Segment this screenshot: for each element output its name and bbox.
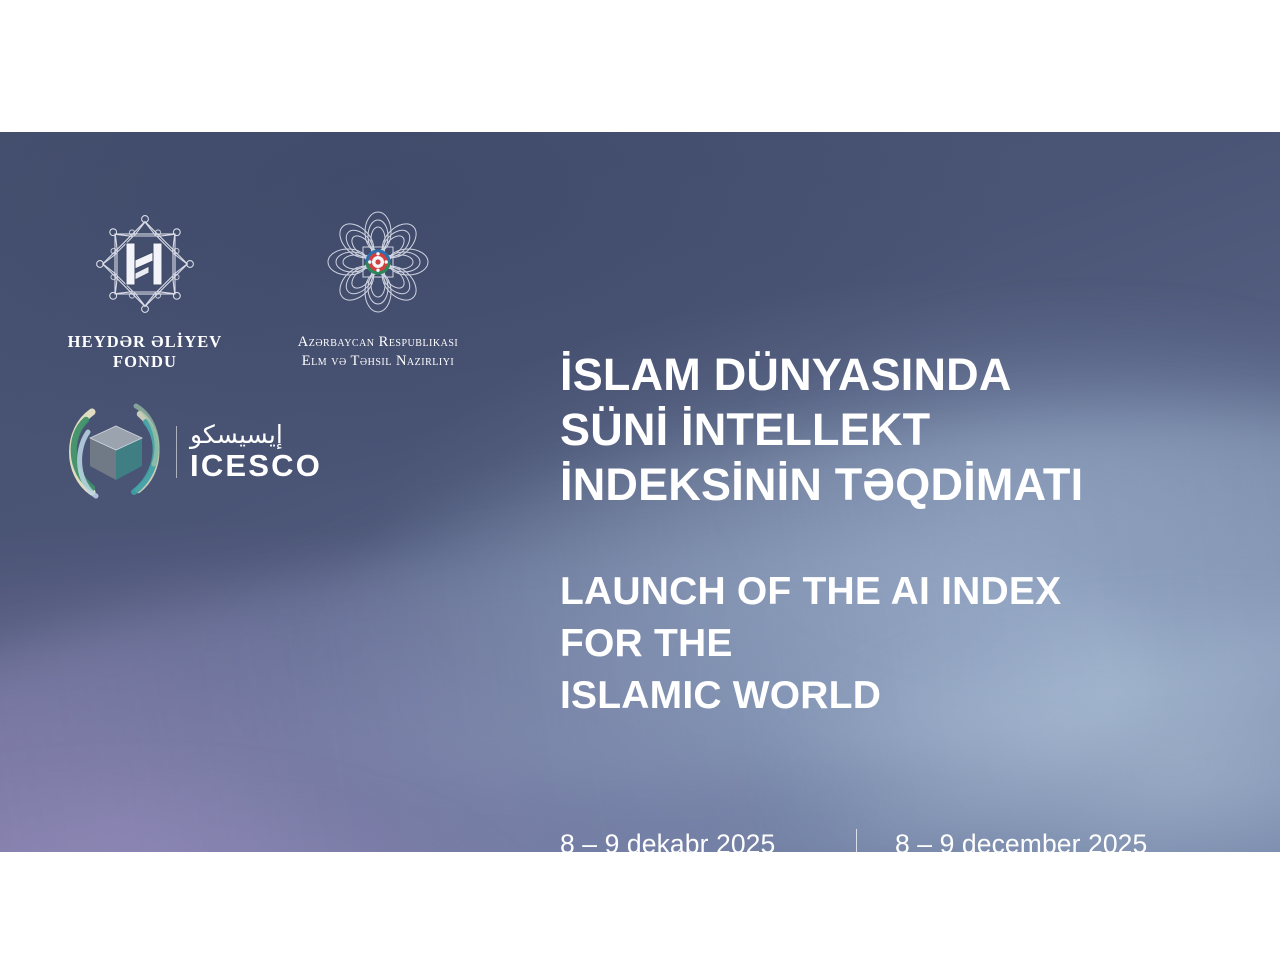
icesco-arabic-label: إيسيسكو: [190, 422, 322, 447]
logo-haf-caption-line1: HEYDƏR ƏLİYEV: [52, 332, 238, 352]
logo-icesco: إيسيسكو ICESCO: [62, 400, 342, 504]
event-details-english: 8 – 9 december 2025 Baku, Azerbaijan: [895, 825, 1147, 852]
logo-heydar-aliyev-foundation: HEYDƏR ƏLİYEV FONDU: [52, 210, 238, 372]
islamic-rosette-emblem-icon: [322, 210, 434, 318]
logo-haf-caption: HEYDƏR ƏLİYEV FONDU: [52, 332, 238, 372]
event-details: 8 – 9 dekabr 2025 Bakı, Azərbaycan 8 – 9…: [560, 825, 1147, 852]
event-details-divider: [856, 829, 857, 852]
headline-english: LAUNCH OF THE AI INDEX FOR THE ISLAMIC W…: [560, 566, 1061, 722]
logo-ministry-education-science: Azərbaycan Respublikası Elm və Təhsil Na…: [250, 210, 506, 371]
event-banner: HEYDƏR ƏLİYEV FONDU: [0, 132, 1280, 852]
eight-pointed-star-monogram-icon: [89, 210, 201, 318]
icesco-divider: [176, 426, 177, 478]
event-details-azerbaijani: 8 – 9 dekabr 2025 Bakı, Azərbaycan: [560, 825, 856, 852]
icesco-latin-label: ICESCO: [190, 450, 322, 483]
icesco-wordmark: إيسيسكو ICESCO: [190, 422, 322, 483]
logo-ministry-caption-line2: Elm və Təhsil Nazirliyi: [250, 352, 506, 371]
headline-azerbaijani: İSLAM DÜNYASINDA SÜNİ İNTELLEKT İNDEKSİN…: [560, 348, 1083, 513]
logo-haf-caption-line2: FONDU: [52, 352, 238, 372]
logo-ministry-caption-line1: Azərbaycan Respublikası: [250, 333, 506, 352]
azerbaijan-emblem-center: [366, 250, 391, 275]
logo-ministry-caption: Azərbaycan Respublikası Elm və Təhsil Na…: [250, 333, 506, 371]
cube-shape: [90, 426, 142, 480]
icesco-cube-swoosh-icon: [62, 400, 170, 504]
logo-group: HEYDƏR ƏLİYEV FONDU: [0, 132, 530, 852]
